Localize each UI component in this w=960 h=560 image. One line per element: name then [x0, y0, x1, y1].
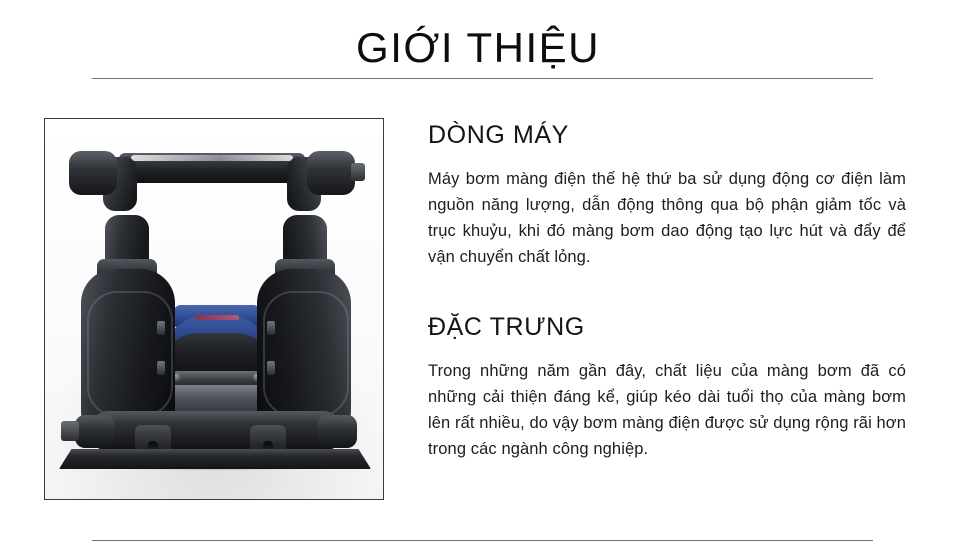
- pump-chamber-right: [257, 269, 351, 434]
- section-body-dac-trung: Trong những năm gần đây, chất liệu của m…: [428, 358, 906, 462]
- divider-bottom: [92, 540, 873, 541]
- pump-base-plate: [59, 449, 371, 469]
- pump-port-cap-left: [69, 151, 117, 195]
- pump-port-stub-right: [351, 163, 365, 181]
- section-heading-dong-may: DÒNG MÁY: [428, 118, 906, 152]
- pump-lower-manifold: [91, 411, 341, 451]
- pump-chamber-ring: [87, 291, 173, 417]
- section-heading-dac-trung: ĐẶC TRƯNG: [428, 310, 906, 344]
- pump-lower-cap-right: [317, 415, 357, 448]
- pump-chamber-bolt: [267, 321, 275, 335]
- pump-chamber-bolt: [267, 361, 275, 375]
- pump-manifold-label-strip: [131, 155, 293, 161]
- pump-motor-label: [195, 315, 239, 320]
- product-image: [45, 119, 383, 499]
- pump-lower-nut-left: [61, 421, 79, 441]
- product-image-frame: [44, 118, 384, 500]
- pump-port-cap-right: [307, 151, 355, 195]
- pump-chamber-left: [81, 269, 175, 434]
- page-title: GIỚI THIỆU: [0, 22, 956, 74]
- pump-chamber-bolt: [157, 361, 165, 375]
- pump-chamber-ring: [263, 291, 349, 417]
- pump-lower-cap-left: [75, 415, 115, 448]
- content-column: DÒNG MÁY Máy bơm màng điện thế hệ thứ ba…: [428, 118, 906, 462]
- section-body-dong-may: Máy bơm màng điện thế hệ thứ ba sử dụng …: [428, 166, 906, 270]
- pump-chamber-bolt: [157, 321, 165, 335]
- pump-base-shadow: [63, 467, 367, 476]
- slide-root: GIỚI THIỆU: [0, 0, 960, 560]
- divider-top: [92, 78, 873, 79]
